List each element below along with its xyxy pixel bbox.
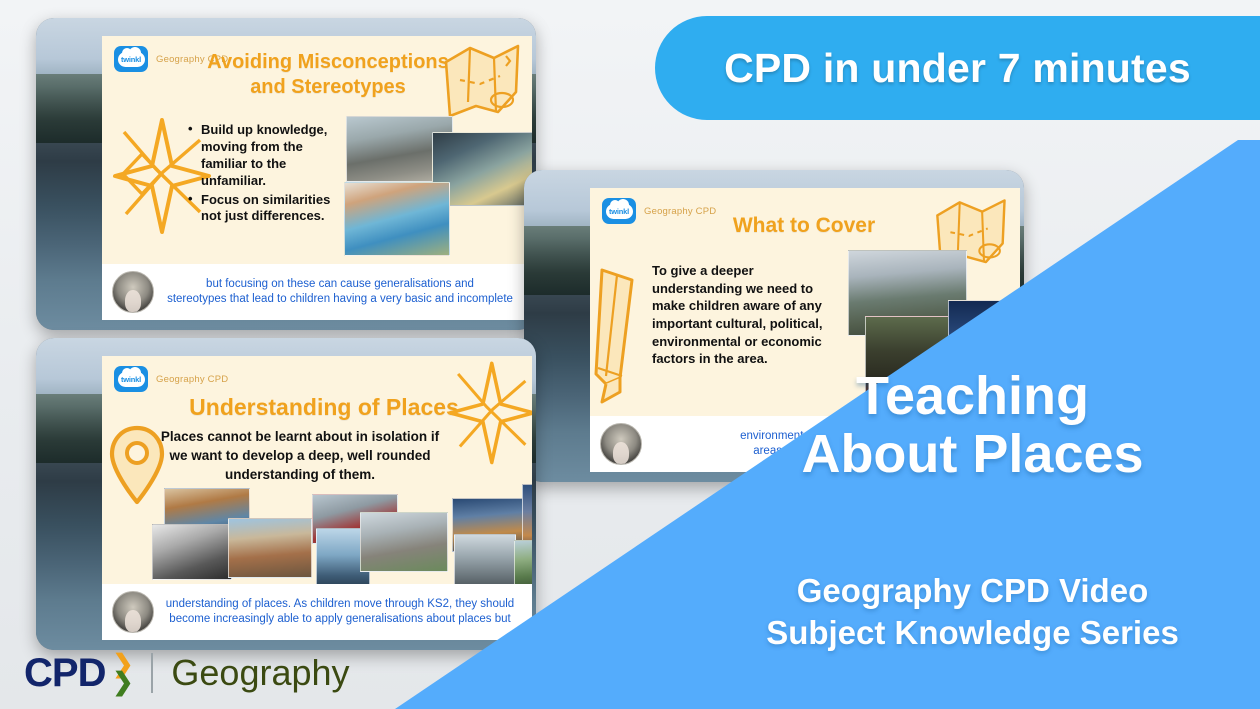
- slide-bullet: Build up knowledge, moving from the fami…: [188, 122, 336, 190]
- slide-body-line3: understanding of them.: [225, 467, 375, 482]
- slide-bullet: Focus on similarities not just differenc…: [188, 192, 336, 226]
- slide-title-line2: and Stereotypes: [250, 76, 406, 98]
- sub-headline-line2: Subject Knowledge Series: [766, 614, 1179, 651]
- logo-cpd-text: CPD: [24, 653, 105, 693]
- slide-bullet-list: Build up knowledge, moving from the fami…: [188, 122, 336, 227]
- slide-caption-bar: understanding of places. As children mov…: [102, 584, 532, 640]
- slide-card-understanding-of-places[interactable]: twinkl Geography CPD Understanding of Pl…: [36, 338, 536, 650]
- slide-caption-line1: but focusing on these can cause generali…: [206, 278, 474, 290]
- presenter-avatar: [112, 591, 154, 633]
- slide-caption-line2: become increasingly able to apply genera…: [169, 613, 510, 625]
- twinkl-wordmark: twinkl: [121, 375, 141, 384]
- photo-tile-green-hills: [514, 540, 532, 586]
- slide-card-avoiding-misconceptions[interactable]: twinkl Geography CPD Avoiding Misconcept…: [36, 18, 536, 330]
- sub-headline-line1: Geography CPD Video: [797, 572, 1148, 609]
- photo-tile-hillside-town: [228, 518, 312, 578]
- presenter-avatar: [600, 423, 642, 465]
- twinkl-wordmark: twinkl: [609, 207, 629, 216]
- top-banner-text: CPD in under 7 minutes: [724, 45, 1191, 92]
- cpd-geography-logo: CPD ❯ ❯ Geography: [24, 653, 350, 693]
- presenter-avatar: [112, 271, 154, 313]
- chevron-green-icon: ❯: [112, 673, 133, 691]
- slide-content: twinkl Geography CPD Understanding of Pl…: [102, 356, 532, 640]
- twinkl-logo-icon: twinkl: [602, 198, 636, 224]
- slide-caption-line2: stereotypes that lead to children having…: [167, 293, 513, 305]
- logo-divider: [151, 653, 153, 693]
- twinkl-logo-icon: twinkl: [114, 366, 148, 392]
- twinkl-wordmark: twinkl: [121, 55, 141, 64]
- twinkl-logo-icon: twinkl: [114, 46, 148, 72]
- slide-caption-bar: but focusing on these can cause generali…: [102, 264, 532, 320]
- video-thumbnail: twinkl Geography CPD Avoiding Misconcept…: [0, 0, 1260, 709]
- slide-title-line1: Avoiding Misconceptions: [207, 51, 449, 73]
- slide-body-text: To give a deeper understanding we need t…: [652, 262, 827, 368]
- slide-caption: but focusing on these can cause generali…: [154, 277, 532, 308]
- logo-subject-text: Geography: [171, 655, 349, 691]
- main-headline: Teaching About Places: [700, 368, 1245, 484]
- slide-body-line1: Places cannot be learnt about in isolati…: [161, 429, 439, 444]
- main-headline-line2: About Places: [700, 426, 1245, 484]
- slide-body-text: Places cannot be learnt about in isolati…: [150, 428, 450, 485]
- slide-brand-row: twinkl Geography CPD: [114, 366, 228, 392]
- slide-body-line2: we want to develop a deep, well rounded: [169, 448, 430, 463]
- slide-kicker: Geography CPD: [156, 374, 228, 385]
- sub-headline: Geography CPD Video Subject Knowledge Se…: [700, 570, 1245, 653]
- slide-caption-line1: understanding of places. As children mov…: [166, 598, 514, 610]
- slide-title: Avoiding Misconceptions and Stereotypes: [186, 50, 470, 100]
- slide-content: twinkl Geography CPD Avoiding Misconcept…: [102, 36, 532, 320]
- main-headline-line1: Teaching: [856, 366, 1089, 426]
- slide-caption: understanding of places. As children mov…: [154, 597, 532, 628]
- photo-tile-historic-bw: [152, 524, 232, 580]
- photo-tile-terraced-houses: [360, 512, 448, 572]
- photo-tile-skyscrapers: [454, 534, 516, 590]
- photo-tile-colourful-street: [344, 182, 450, 256]
- top-banner: CPD in under 7 minutes: [655, 16, 1260, 120]
- chevron-double-icon: ❯ ❯: [112, 655, 133, 691]
- pencil-icon: [590, 260, 656, 410]
- slide-title: Understanding of Places: [168, 394, 480, 421]
- slide-title: What to Cover: [674, 214, 934, 238]
